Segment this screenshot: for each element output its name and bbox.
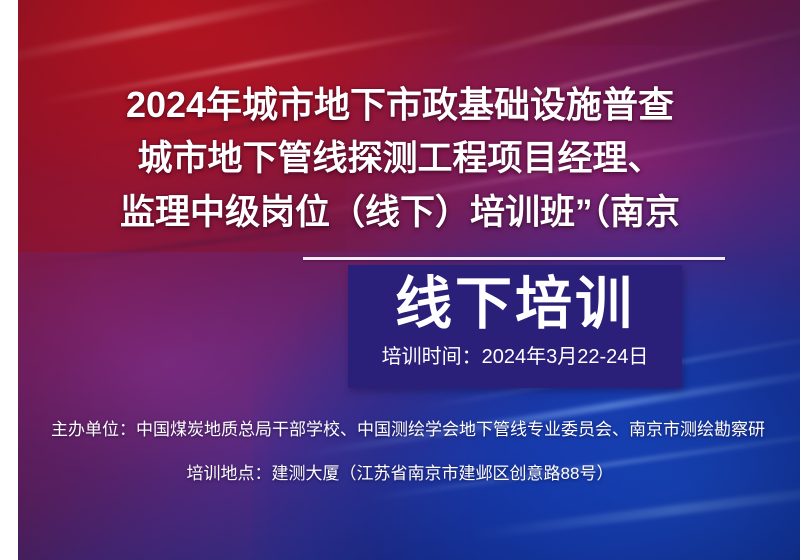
title-line-2: 城市地下管线探测工程项目经理、 (0, 132, 800, 186)
left-white-margin (0, 0, 18, 560)
offline-training-badge: 线下培训 培训时间：2024年3月22-24日 (348, 265, 682, 388)
promo-banner: 2024年城市地下市政基础设施普查 城市地下管线探测工程项目经理、 监理中级岗位… (0, 0, 800, 560)
title-line-3: 监理中级岗位（线下）培训班”（南京 (0, 186, 800, 240)
footer-organizer-line: 主办单位：中国煤炭地质总局干部学校、中国测绘学会地下管线专业委员会、南京市测绘勘… (8, 408, 800, 452)
banner-title: 2024年城市地下市政基础设施普查 城市地下管线探测工程项目经理、 监理中级岗位… (0, 78, 800, 240)
badge-headline: 线下培训 (348, 270, 682, 338)
badge-date-label: 培训时间：2024年3月22-24日 (348, 343, 682, 371)
title-divider-rule (303, 257, 725, 260)
footer-venue-line: 培训地点：建测大厦（江苏省南京市建邺区创意路88号） (0, 452, 800, 496)
banner-content: 2024年城市地下市政基础设施普查 城市地下管线探测工程项目经理、 监理中级岗位… (0, 0, 800, 560)
banner-footer: 主办单位：中国煤炭地质总局干部学校、中国测绘学会地下管线专业委员会、南京市测绘勘… (0, 408, 800, 496)
title-line-1: 2024年城市地下市政基础设施普查 (0, 78, 800, 132)
